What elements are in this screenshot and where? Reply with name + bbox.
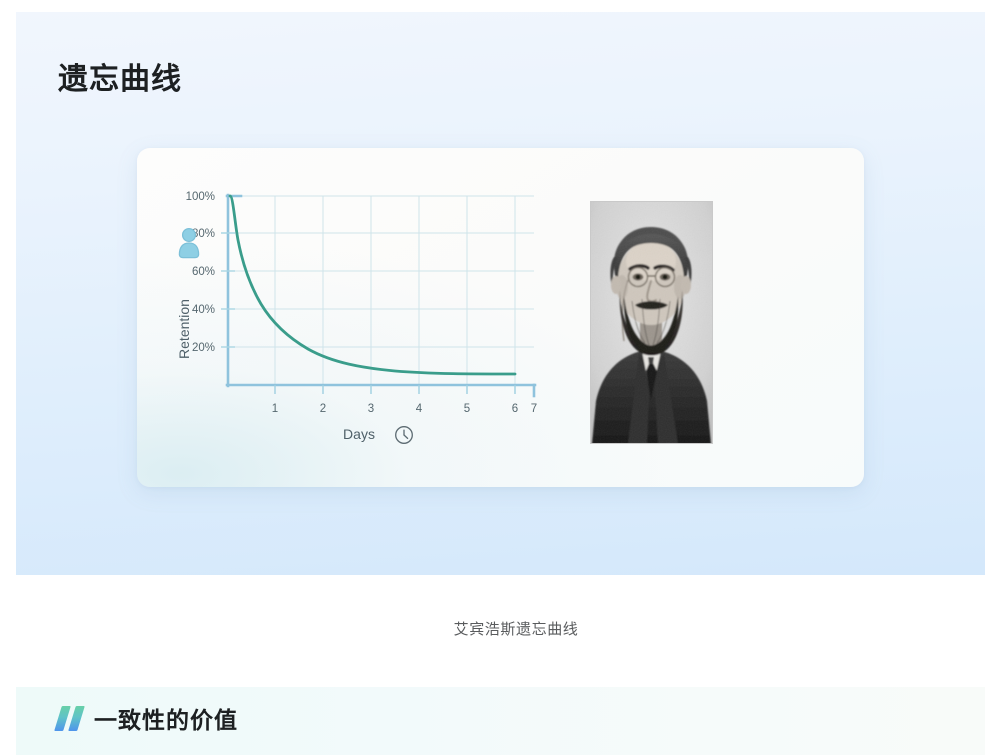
xtick-label: 5	[464, 403, 470, 415]
chart-xticks	[275, 385, 515, 394]
clock-icon	[396, 427, 413, 444]
forgetting-curve-chart: 100% 80% 60% 40% 20% 1 2 3 4 5 6 7	[163, 174, 573, 464]
double-slash-icon	[58, 706, 81, 731]
xtick-label: 1	[272, 403, 278, 415]
ebbinghaus-portrait	[590, 201, 713, 444]
figure-caption: 艾宾浩斯遗忘曲线	[16, 618, 1000, 639]
xtick-label: 6	[512, 403, 518, 415]
ytick-label: 60%	[192, 266, 215, 278]
chart-ylabel: Retention	[176, 299, 192, 359]
hero-panel: 遗忘曲线	[16, 12, 985, 575]
chart-axes	[227, 195, 535, 396]
figure-card: 100% 80% 60% 40% 20% 1 2 3 4 5 6 7	[137, 148, 864, 487]
slide-page: 遗忘曲线	[0, 0, 1000, 755]
ytick-label: 100%	[186, 191, 215, 203]
chart-xtick-labels: 1 2 3 4 5 6 7	[272, 403, 537, 415]
xtick-label: 4	[416, 403, 423, 415]
ytick-label: 20%	[192, 342, 215, 354]
section-heading: 一致性的价值	[58, 701, 238, 735]
person-icon	[179, 229, 198, 258]
chart-gridlines-horizontal	[227, 196, 534, 347]
section-panel: 一致性的价值	[16, 687, 985, 755]
xtick-label: 2	[320, 403, 326, 415]
page-title: 遗忘曲线	[58, 60, 182, 99]
portrait-photo	[590, 201, 713, 444]
xtick-label: 3	[368, 403, 374, 415]
xtick-label: 7	[531, 403, 537, 415]
chart-svg: 100% 80% 60% 40% 20% 1 2 3 4 5 6 7	[163, 174, 573, 464]
accent-bar-2	[68, 706, 85, 731]
chart-gridlines-vertical	[275, 196, 515, 385]
section-title: 一致性的价值	[94, 701, 238, 735]
chart-xlabel: Days	[343, 426, 375, 442]
ytick-label: 40%	[192, 304, 215, 316]
